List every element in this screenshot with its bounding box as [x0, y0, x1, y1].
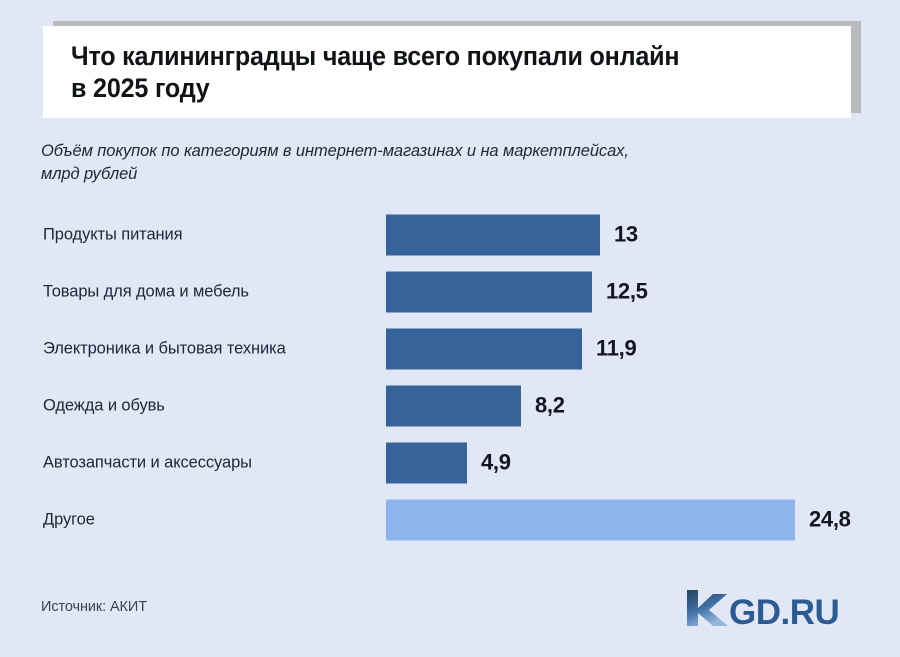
bar — [386, 385, 521, 426]
bar — [386, 271, 592, 312]
svg-text:GD.RU: GD.RU — [729, 593, 839, 628]
bar-value-label: 4,9 — [481, 450, 511, 476]
page-title: Что калининградцы чаще всего покупали он… — [71, 40, 772, 104]
category-label: Электроника и бытовая техника — [43, 339, 286, 358]
bar-track: 4,9 — [386, 442, 511, 483]
bar-track: 24,8 — [386, 499, 851, 540]
source-note: Источник: АКИТ — [41, 599, 147, 615]
bar-track: 8,2 — [386, 385, 565, 426]
bar-track: 11,9 — [386, 328, 636, 369]
bar-value-label: 12,5 — [606, 279, 648, 305]
bar-chart: Продукты питания 13 Товары для дома и ме… — [0, 206, 900, 548]
category-label: Товары для дома и мебель — [43, 282, 249, 301]
bar — [386, 442, 467, 483]
category-label: Продукты питания — [43, 225, 183, 244]
bar-track: 12,5 — [386, 271, 648, 312]
chart-row: Автозапчасти и аксессуары 4,9 — [0, 434, 900, 491]
chart-subtitle: Объём покупок по категориям в интернет-м… — [41, 140, 831, 186]
chart-row: Электроника и бытовая техника 11,9 — [0, 320, 900, 377]
bar — [386, 328, 582, 369]
bar-value-label: 8,2 — [535, 393, 565, 419]
chart-row: Одежда и обувь 8,2 — [0, 377, 900, 434]
chart-row: Товары для дома и мебель 12,5 — [0, 263, 900, 320]
title-card: Что калининградцы чаще всего покупали он… — [43, 26, 851, 118]
category-label: Другое — [43, 510, 95, 529]
bar — [386, 214, 600, 255]
chart-row: Продукты питания 13 — [0, 206, 900, 263]
kgd-ru-logo: GD.RU — [685, 588, 860, 628]
bar-track: 13 — [386, 214, 638, 255]
chart-row: Другое 24,8 — [0, 491, 900, 548]
category-label: Одежда и обувь — [43, 396, 165, 415]
bar-value-label: 24,8 — [809, 507, 851, 533]
title-card-surface: Что калининградцы чаще всего покупали он… — [43, 26, 851, 118]
bar — [386, 499, 795, 540]
bar-value-label: 13 — [614, 222, 638, 248]
category-label: Автозапчасти и аксессуары — [43, 453, 252, 472]
bar-value-label: 11,9 — [596, 336, 636, 362]
